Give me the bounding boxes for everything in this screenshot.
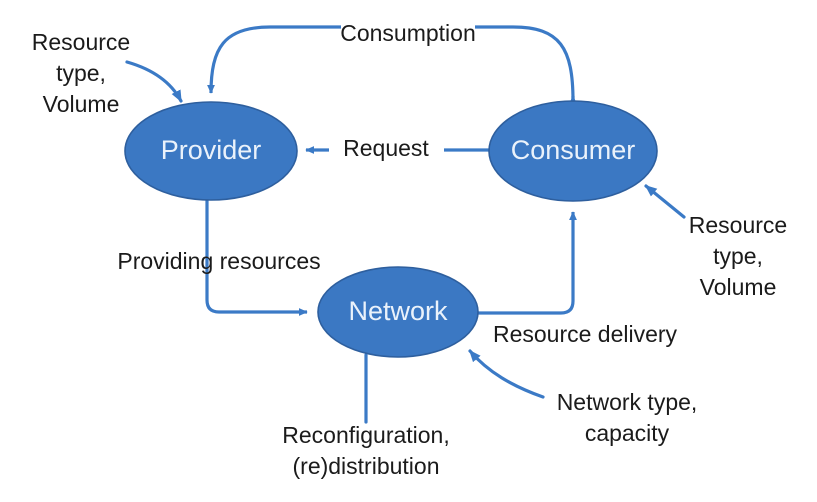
edge-consumption-line-left [211,27,341,93]
network-attributes-line-2: capacity [585,420,670,446]
network-attributes-line-1: Network type, [557,389,698,415]
edge-resource-delivery[interactable] [478,212,573,313]
node-provider[interactable]: Provider [125,102,297,200]
annotation-leader-provider [127,62,181,101]
annotation-network-functions: Reconfiguration, (re)distribution [282,422,450,479]
edge-label-request: Request [343,135,429,161]
network-functions-line-1: Reconfiguration, [282,422,450,448]
node-network[interactable]: Network [318,267,478,357]
resource-provisioning-diagram: Provider Consumer Network Consumption Re… [0,0,817,502]
provider-attributes-arrow [127,62,181,101]
annotation-network-attributes: Network type, capacity [557,389,698,446]
annotation-provider-attributes: Resource type, Volume [32,29,130,117]
network-functions-line-2: (re)distribution [293,453,440,479]
annotation-leader-network-attributes [470,351,543,397]
provider-attributes-line-3: Volume [43,91,120,117]
consumer-attributes-arrow [646,186,684,217]
node-consumer[interactable]: Consumer [489,101,657,201]
provider-attributes-line-1: Resource [32,29,130,55]
consumer-label: Consumer [511,135,636,165]
edge-consumption-line-right [475,27,573,101]
edge-resource-delivery-line [478,212,573,313]
network-label: Network [348,296,448,326]
annotation-consumer-attributes: Resource type, Volume [689,212,787,300]
consumer-attributes-line-3: Volume [700,274,777,300]
edge-label-consumption: Consumption [340,20,476,46]
edge-label-providing-resources: Providing resources [117,248,320,274]
provider-attributes-line-2: type, [56,60,106,86]
consumer-attributes-line-1: Resource [689,212,787,238]
diagram-canvas: Provider Consumer Network Consumption Re… [0,0,817,502]
network-attributes-arrow [470,351,543,397]
edge-label-resource-delivery: Resource delivery [493,321,678,347]
annotation-leader-consumer [646,186,684,217]
consumer-attributes-line-2: type, [713,243,763,269]
provider-label: Provider [161,135,262,165]
